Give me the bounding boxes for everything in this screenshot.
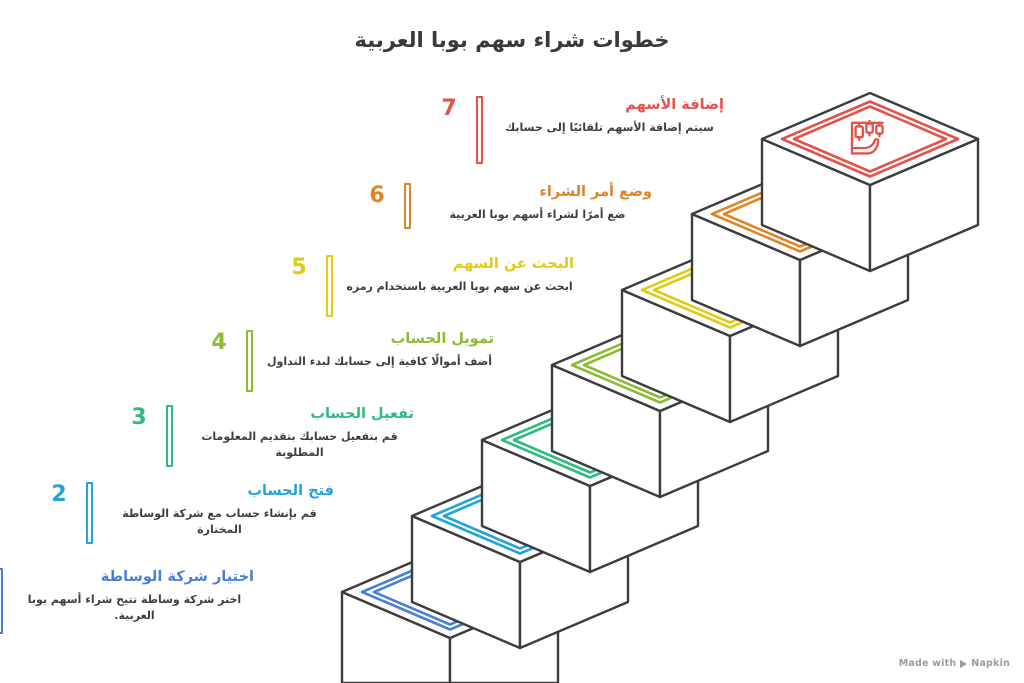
step-number-3: 3 bbox=[124, 405, 154, 429]
step-accent-bar-6 bbox=[404, 183, 411, 229]
step-accent-bar-7 bbox=[476, 96, 483, 164]
step-label-3: 3 تفعيل الحساب قم بتفعيل حسابك بتقديم ال… bbox=[124, 405, 414, 467]
step-tread-7 bbox=[762, 93, 978, 271]
step-title-4: تمويل الحساب bbox=[265, 330, 494, 348]
step-number-5: 5 bbox=[284, 255, 314, 279]
step-description-3: قم بتفعيل حسابك بتقديم المعلومات المطلوب… bbox=[185, 429, 414, 461]
step-number-4: 4 bbox=[204, 330, 234, 354]
watermark-prefix: Made with bbox=[899, 658, 957, 669]
step-description-2: قم بإنشاء حساب مع شركة الوساطة المختارة bbox=[105, 506, 334, 538]
step-tread-5 bbox=[622, 244, 838, 422]
user-envelope-icon bbox=[569, 422, 612, 447]
step-accent-bar-3 bbox=[166, 405, 173, 467]
infographic-canvas: خطوات شراء سهم بوبا العربية bbox=[0, 0, 1024, 683]
step-tread-2 bbox=[412, 470, 628, 648]
page-title: خطوات شراء سهم بوبا العربية bbox=[0, 28, 1024, 52]
step-title-6: وضع أمر الشراء bbox=[423, 183, 652, 201]
step-description-4: أضف أموالًا كافية إلى حسابك لبدء التداول bbox=[265, 354, 494, 370]
watermark-brand: Napkin bbox=[971, 658, 1010, 669]
step-tread-4 bbox=[552, 319, 768, 497]
step-label-1: 1 اختيار شركة الوساطة اختر شركة وساطة تت… bbox=[0, 568, 254, 634]
step-description-1: اختر شركة وساطة تتيح شراء أسهم بوبا العر… bbox=[15, 592, 254, 624]
step-description-5: ابحث عن سهم بوبا العربية باستخدام رمزه bbox=[345, 279, 574, 295]
step-accent-bar-4 bbox=[246, 330, 253, 392]
step-title-1: اختيار شركة الوساطة bbox=[15, 568, 254, 586]
step-title-5: البحث عن السهم bbox=[345, 255, 574, 273]
add-user-laptop-icon bbox=[498, 498, 539, 527]
step-description-7: سيتم إضافة الأسهم تلقائيًا إلى حسابك bbox=[495, 120, 724, 136]
step-description-6: ضع أمرًا لشراء أسهم بوبا العربية bbox=[423, 207, 652, 223]
step-number-6: 6 bbox=[362, 183, 392, 207]
step-tread-1 bbox=[342, 546, 558, 683]
step-title-2: فتح الحساب bbox=[105, 482, 334, 500]
step-tread-3 bbox=[482, 394, 698, 572]
step-accent-bar-1 bbox=[0, 568, 3, 634]
step-title-3: تفعيل الحساب bbox=[185, 405, 414, 423]
step-number-7: 7 bbox=[434, 96, 464, 120]
svg-text:BUY: BUY bbox=[786, 206, 808, 217]
step-label-5: 5 البحث عن السهم ابحث عن سهم بوبا العربي… bbox=[284, 255, 574, 317]
step-title-7: إضافة الأسهم bbox=[495, 96, 724, 114]
bank-building-icon bbox=[427, 575, 473, 604]
napkin-watermark: Made with Napkin bbox=[899, 658, 1010, 669]
portfolio-hand-chart-icon bbox=[852, 121, 883, 153]
search-chart-icon bbox=[711, 269, 744, 304]
play-icon bbox=[960, 660, 967, 668]
step-label-6: 6 وضع أمر الشراء ضع أمرًا لشراء أسهم بوب… bbox=[362, 183, 652, 229]
buy-button-cursor-icon: BUY bbox=[780, 199, 816, 237]
cash-wallet-icon bbox=[644, 348, 676, 379]
step-label-7: 7 إضافة الأسهم سيتم إضافة الأسهم تلقائيً… bbox=[434, 96, 724, 164]
step-label-2: 2 فتح الحساب قم بإنشاء حساب مع شركة الوس… bbox=[44, 482, 334, 544]
step-number-2: 2 bbox=[44, 482, 74, 506]
step-tread-6: BUY bbox=[692, 168, 908, 346]
step-label-4: 4 تمويل الحساب أضف أموالًا كافية إلى حسا… bbox=[204, 330, 494, 392]
step-accent-bar-2 bbox=[86, 482, 93, 544]
step-accent-bar-5 bbox=[326, 255, 333, 317]
